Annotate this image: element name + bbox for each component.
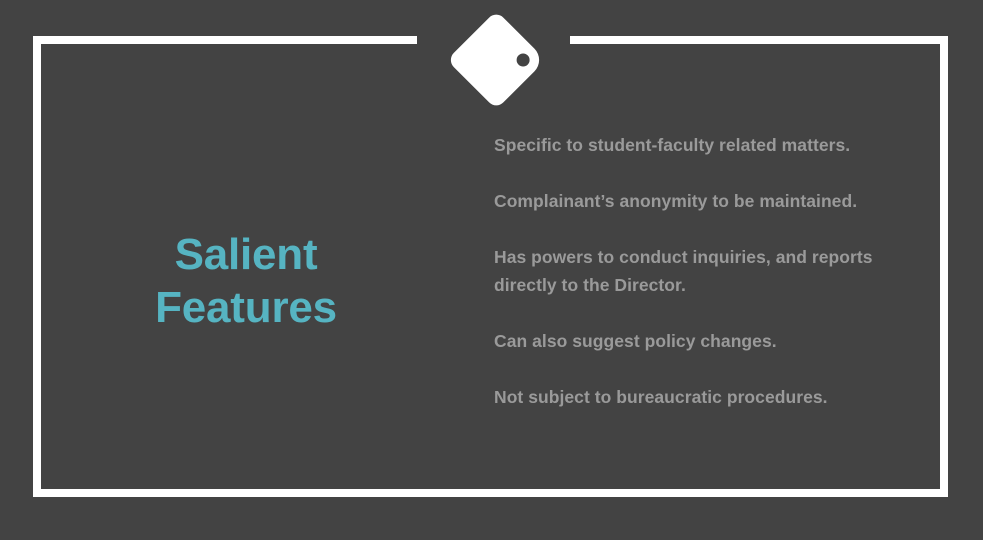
frame-border-bottom bbox=[33, 489, 948, 497]
page-title-line-1: Salient bbox=[60, 228, 432, 281]
features-list: Specific to student-faculty related matt… bbox=[494, 131, 926, 411]
frame-border-top-right bbox=[570, 36, 948, 44]
frame-border-top-left bbox=[33, 36, 417, 44]
list-item: Can also suggest policy changes. bbox=[494, 327, 926, 355]
frame-border-left bbox=[33, 36, 41, 497]
list-item: Specific to student-faculty related matt… bbox=[494, 131, 926, 159]
list-item: Has powers to conduct inquiries, and rep… bbox=[494, 243, 926, 299]
tag-icon bbox=[444, 12, 540, 108]
list-item: Not subject to bureaucratic procedures. bbox=[494, 383, 926, 411]
page-title-line-2: Features bbox=[60, 281, 432, 334]
page-title: Salient Features bbox=[60, 228, 432, 334]
slide-canvas: Salient Features Specific to student-fac… bbox=[0, 0, 983, 540]
list-item: Complainant’s anonymity to be maintained… bbox=[494, 187, 926, 215]
frame-border-right bbox=[940, 36, 948, 497]
